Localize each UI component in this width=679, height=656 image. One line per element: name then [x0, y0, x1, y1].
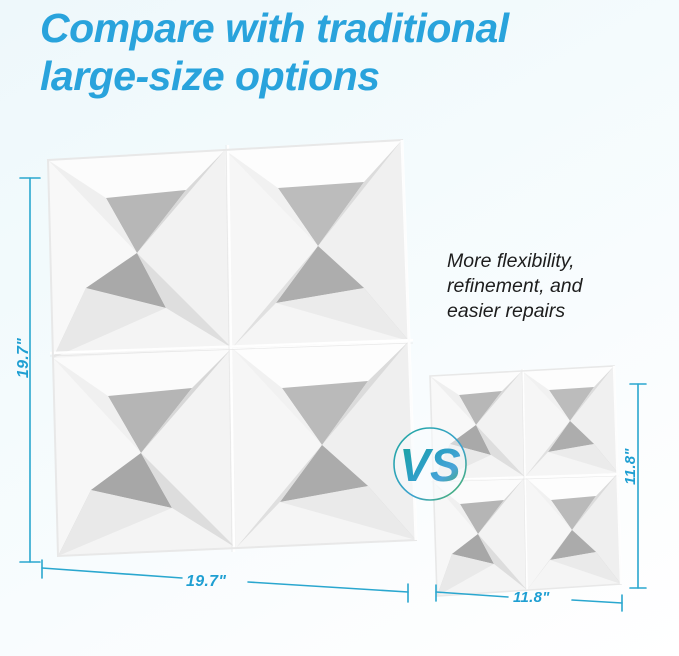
vs-badge-svg: VS — [390, 424, 470, 504]
page-headline: Compare with traditional large-size opti… — [40, 4, 640, 100]
facet-tile-top-right — [225, 140, 409, 348]
small-panel-width-label: 11.8" — [513, 589, 550, 606]
small-panel-caption: More flexibility, refinement, and easier… — [447, 249, 647, 324]
small-facet-tile-top-right — [522, 366, 618, 477]
comparison-infographic: Compare with traditional large-size opti… — [0, 0, 679, 656]
facet-tile-top-left — [48, 150, 232, 358]
vs-badge-label: VS — [399, 439, 461, 491]
facet-tile-bottom-left — [53, 348, 236, 556]
vs-badge: VS — [390, 424, 470, 504]
large-panel-svg — [46, 138, 418, 558]
facet-tile-bottom-right — [232, 341, 416, 548]
large-panel-image — [46, 138, 418, 558]
small-panel-height-label: 11.8" — [622, 448, 639, 485]
large-panel-height-label: 19.7" — [15, 338, 33, 378]
small-facet-tile-bottom-right — [525, 473, 621, 590]
dimension-small-height — [630, 384, 646, 588]
large-panel-width-label: 19.7" — [186, 573, 226, 591]
